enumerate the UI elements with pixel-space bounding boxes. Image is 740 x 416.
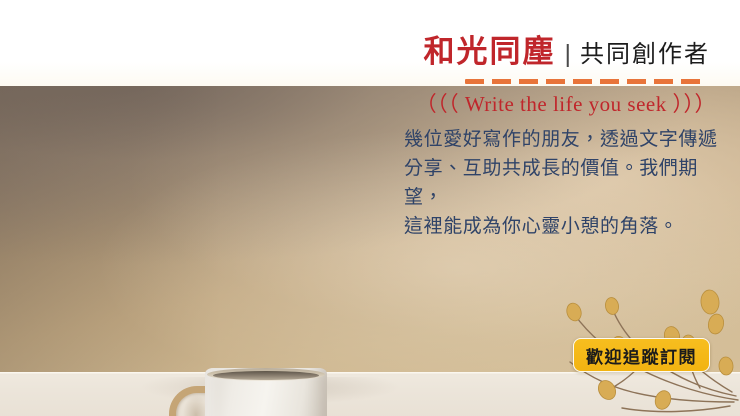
brand-title: 和光同塵	[424, 36, 556, 67]
mug-interior	[213, 371, 319, 380]
brand-title-row: 和光同塵 | 共同創作者	[424, 36, 711, 67]
role-label: 共同創作者	[580, 43, 710, 67]
ceramic-mug	[205, 368, 327, 416]
body-copy-line-2: 分享、互助共成長的價值。我們期望，	[404, 154, 722, 212]
table-edge-highlight	[0, 372, 740, 375]
body-copy-line-1: 幾位愛好寫作的朋友，透過文字傳遞	[404, 125, 722, 154]
brand-banner: 和光同塵 | 共同創作者 （（（ Write the life you seek…	[0, 0, 740, 416]
subscribe-button[interactable]: 歡迎追蹤訂閱	[573, 338, 710, 372]
body-copy-line-3: 這裡能成為你心靈小憩的角落。	[404, 212, 722, 241]
dashed-underline	[465, 79, 705, 84]
title-separator: |	[565, 42, 572, 67]
tagline: （（（ Write the life you seek ）））	[416, 88, 716, 118]
body-copy: 幾位愛好寫作的朋友，透過文字傳遞 分享、互助共成長的價值。我們期望， 這裡能成為…	[404, 125, 722, 241]
